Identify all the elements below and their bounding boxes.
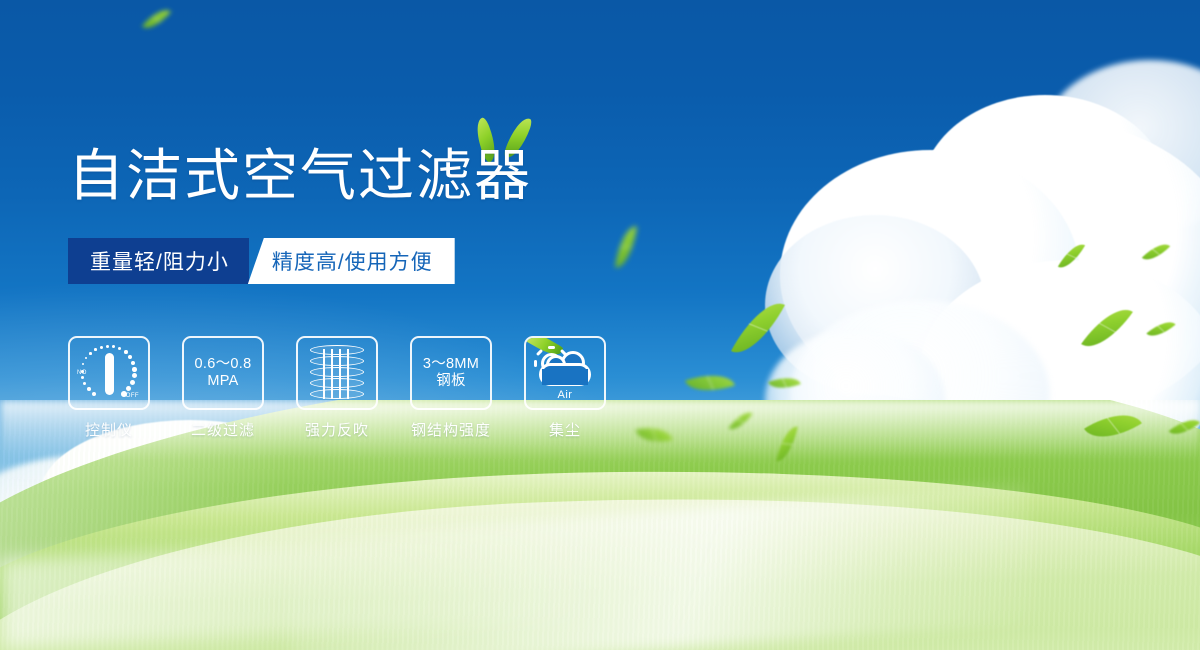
feature-icon-box [296, 336, 378, 410]
tagline-badges: 重量轻/阻力小 精度高/使用方便 [68, 238, 455, 284]
pressure-icon-line1: 0.6～0.8 [195, 356, 252, 373]
feature-list: NO OFF 控制仪 0.6～0.8 MPA 二级过滤 [68, 336, 606, 440]
feature-item-controller[interactable]: NO OFF 控制仪 [68, 336, 150, 440]
feature-caption: 二级过滤 [182, 419, 264, 440]
filter-ring [310, 367, 364, 377]
feature-item-backblow[interactable]: 强力反吹 [296, 336, 378, 440]
gauge-on-label: NO [77, 370, 87, 376]
page-title: 自洁式空气过滤器 [68, 148, 532, 204]
feature-item-dust[interactable]: Air 集尘 [524, 336, 606, 440]
feature-caption: 钢结构强度 [410, 419, 492, 440]
gauge-off-label: OFF [126, 393, 139, 399]
cloud-air-icon: Air [535, 349, 595, 397]
feature-caption: 控制仪 [68, 419, 150, 440]
feature-icon-box: NO OFF [68, 336, 150, 410]
feature-caption: 集尘 [524, 419, 606, 440]
feature-item-pressure[interactable]: 0.6～0.8 MPA 二级过滤 [182, 336, 264, 440]
pressure-icon-line2: MPA [207, 373, 238, 390]
gauge-icon: NO OFF [78, 344, 140, 402]
feature-item-steel[interactable]: 3～8MM 钢板 钢结构强度 [410, 336, 492, 440]
feature-caption: 强力反吹 [296, 419, 378, 440]
steel-icon-line1: 3～8MM [423, 356, 479, 373]
feature-icon-box: 3～8MM 钢板 [410, 336, 492, 410]
hero-banner: 自洁式空气过滤器 重量轻/阻力小 精度高/使用方便 [0, 0, 1200, 650]
feature-icon-box: 0.6～0.8 MPA [182, 336, 264, 410]
badge-secondary: 精度高/使用方便 [248, 238, 455, 284]
badge-primary: 重量轻/阻力小 [68, 238, 249, 284]
filter-ring [310, 389, 364, 399]
filter-stack-icon [310, 345, 364, 401]
gauge-needle [105, 353, 114, 395]
filter-ring [310, 356, 364, 366]
steel-icon-line2: 钢板 [436, 373, 466, 390]
filter-ring [310, 378, 364, 388]
filter-ring [310, 345, 364, 355]
cloud-mask [542, 369, 588, 385]
feature-icon-box: Air [524, 336, 606, 410]
air-label: Air [535, 389, 595, 401]
